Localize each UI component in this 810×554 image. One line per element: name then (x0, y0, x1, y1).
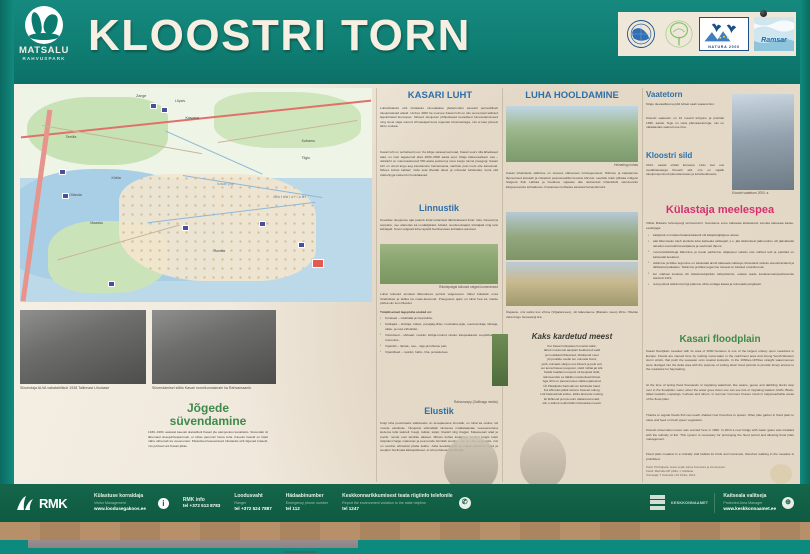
map-marker[interactable] (150, 103, 157, 109)
kasari-luht-body-1: Luhaniitudeks ehk luhtadeks nimetatakse … (380, 106, 498, 129)
eu-council-emblem-icon (623, 17, 659, 51)
jogede-title-line2: süvendamine (152, 415, 264, 428)
map-place-label: Zange (136, 94, 146, 98)
wooden-post-base (0, 522, 810, 540)
section-title-kulastaja-meelespea: Külastaja meelespea (646, 204, 794, 216)
keskkonnaamet-logo-icon (650, 495, 665, 512)
footer-divider (714, 493, 715, 513)
dredging-photo-2 (152, 310, 276, 384)
footer-item-violation-report: Keskkonnarikkumisest teata riigiinfo tel… (342, 493, 453, 513)
matsalu-park-logo: MATSALU RAHVUSPARK (14, 6, 74, 68)
footer-value: tel +372 513 8783 (183, 503, 220, 510)
photo-caption: Rändepaigal toituvad valged-luurendused (380, 285, 498, 289)
footer-item-ranger: Loodusvaht Ranger tel +372 524 7887 (234, 493, 271, 513)
hay-meadow-photo (506, 106, 638, 162)
phone-icon: ✆ (459, 497, 471, 509)
green-tree-emblem-icon (664, 17, 694, 51)
map-place-label: Kasari jõgi (217, 182, 234, 186)
vaatetorn-body-2: Kloostri vaatetorn on 16 meetrit kõrgune… (646, 116, 724, 130)
section-title-kasari-luht: KASARI LUHT (380, 90, 500, 101)
park-name: MATSALU (14, 46, 74, 56)
list-item: Kahlajad – kiivitaja, tutkas, punajalg-t… (380, 322, 498, 331)
footer-value[interactable]: www.loodusegakoos.ee (94, 506, 146, 513)
dredging-photo-1 (20, 310, 146, 384)
section-title-linnustik: Linnustik (380, 203, 498, 213)
linnustik-body-2: Luhal toituvad arvukad lähenduses peritu… (380, 292, 498, 306)
floodplain-paragraph: Kasari floodplain meadow with its area o… (646, 349, 794, 372)
matsalu-area-map: Zange Lõpsiv Kaspera Teedla Kubamu Tiigi… (20, 88, 372, 302)
luha-hooldamine-body-2: Ülejaanu, mis tekkis kus vihma (Vilgalan… (506, 310, 638, 319)
logo-bar (650, 495, 665, 499)
board-frame-left (0, 0, 14, 540)
jogede-body-text: 1930–1990. aastatel kaevati ulatuslikult… (148, 430, 268, 448)
photo-caption: Kloostri vaatetorn 2000. a. (732, 191, 794, 195)
logo-bar (650, 506, 665, 510)
column-divider (376, 88, 377, 482)
map-place-label: Rumba (214, 249, 226, 253)
footer-item-rmk-info: RMK info tel +372 513 8783 (183, 497, 220, 510)
water-shape-icon (29, 33, 59, 40)
map-highlight-marker[interactable] (312, 259, 324, 268)
photo-caption: Süvendamisel sõitis Kasari roomikumasina… (152, 386, 276, 390)
map-marker[interactable] (298, 242, 305, 248)
column-divider (502, 88, 503, 482)
map-place-label: Kubamu (302, 139, 315, 143)
kulastaja-intro: Viibite Matsalu rahvuspargi territoorium… (646, 221, 794, 230)
credit-line: Toimetaja: T. Kalvusta / AS Infoks, 2014… (646, 474, 766, 478)
observation-tower-photo (732, 94, 794, 190)
footer-item-emergency: Hädaabinumber Emergency phone number tel… (286, 493, 328, 513)
floodplain-paragraph: Thanks to regular floods fish can reach … (646, 413, 794, 422)
board-header: MATSALU RAHVUSPARK KLOOSTRI TORN (0, 0, 810, 84)
footer-item-protected-area-manager: Kaitseala valitseja Protected Area Manag… (723, 493, 776, 513)
map-marker[interactable] (259, 221, 266, 227)
poem-text: Kui Kasari luhtsades hernetilu kahk, läh… (508, 344, 636, 406)
section-title-luha-hooldamine: LUHA HOOLDAMINE (506, 90, 638, 101)
section-title-jogede-suvendamine: Jõgede süvendamine (152, 402, 264, 428)
map-place-label: Tiigiu (302, 156, 310, 160)
info-icon: i (158, 498, 169, 509)
luha-hooldamine-body-1: Kasari luhaniitude säilimine on otseses … (506, 171, 638, 189)
list-item: mootorsõidukitega liiklemine ja teede pa… (648, 250, 794, 259)
snipe-photo (492, 334, 508, 386)
list-item: kui märkad loodusa või külastusobjektide… (648, 272, 794, 281)
section-title-kloostri-sild: Kloostri sild (646, 151, 724, 160)
section-title-kasari-floodplain: Kasari floodplain (646, 334, 794, 345)
map-place-label: Kaspera (185, 116, 198, 120)
photo-caption: Rahvusvapp (Gallinago media) (454, 400, 554, 404)
ramsar-logo: Ramsar (754, 17, 794, 51)
column-divider (642, 88, 643, 482)
ramsar-label: Ramsar (754, 37, 794, 44)
keskkonnaamet-name: KESKKONNAAMET (671, 501, 708, 505)
footer-label: Külastuse korraldaja (94, 493, 146, 500)
page-title: KLOOSTRI TORN (88, 8, 471, 64)
vaatetorn-body-1: Kõige ülevaatlikuma pildi luhast saab va… (646, 102, 724, 107)
panel-body: Zange Lõpsiv Kaspera Teedla Kubamu Tiigi… (14, 84, 800, 486)
list-item: Värvulised – sõrkaart, sookiur, kõrkja-r… (380, 333, 498, 342)
photo-caption: Heinaringu luhas (506, 163, 638, 167)
keskkonnaamet-block: KESKKONNAAMET Kaitseala valitseja Protec… (650, 493, 794, 513)
list-item: reisi jooksul tekkinud prügi pakume võtt… (648, 282, 794, 287)
kulastaja-rules-list: kalapüük on lubatud kalastuskaardi või k… (648, 233, 794, 289)
haystack-photo (506, 262, 638, 306)
map-marker[interactable] (182, 225, 189, 231)
footer-item-visitor-management: Külastuse korraldaja Visitor Management … (94, 493, 146, 513)
board-footer: RMK Külastuse korraldaja Visitor Managem… (0, 484, 810, 522)
board-frame-right (800, 0, 810, 540)
linnustik-list-title: Tüüpilisemad lagepluha arukad on: (380, 310, 498, 315)
natura-2000-label: NATURA 2000 (700, 45, 748, 49)
list-item: Kurekael – rukkirääk ja rüpesluhta, (380, 316, 498, 321)
information-board: MATSALU RAHVUSPARK KLOOSTRI TORN (0, 0, 810, 540)
footer-label: Keskkonnarikkumisest teata riigiinfo tel… (342, 493, 453, 500)
map-place-label: Kirbla (112, 176, 121, 180)
map-marker[interactable] (62, 193, 69, 199)
rmk-logo: RMK (14, 492, 80, 514)
map-bay-label: Matsalu laht (273, 195, 307, 199)
rmk-wordmark: RMK (39, 496, 67, 511)
section-title-vaatetorn: Vaatetorn (646, 90, 724, 99)
linnustik-species-list: Kurekael – rukkirääk ja rüpesluhta, Kahl… (380, 316, 498, 356)
map-place-label: Teedla (66, 135, 77, 139)
list-item: Vipardid – ränkat-, see-, rüge-jä luhtos… (380, 344, 498, 349)
historic-photo-row: Süvendaja ALVA vabatahtlikult 1938 Talli… (20, 310, 372, 406)
footer-value: tel 112 (286, 506, 328, 513)
map-marker[interactable] (161, 107, 168, 113)
list-item: kalapüük on lubatud kalastuskaardi või k… (648, 233, 794, 238)
section-title-elustik: Elustik (380, 406, 498, 416)
map-reedbed (119, 174, 316, 281)
list-item: telkimine ja lõkke tegemine on kaitseala… (648, 261, 794, 270)
map-place-label: Maadsu (90, 221, 103, 225)
map-place-label: Lõpsiv (175, 99, 185, 103)
park-emblem-icon (25, 6, 63, 44)
photo-caption: Süvendaja ALVA vabatahtlikult 1938 Talli… (20, 386, 146, 390)
footer-value: tel 1247 (342, 506, 453, 513)
natura-2000-logo: NATURA 2000 (699, 17, 749, 51)
rmk-mark-icon (14, 492, 36, 514)
park-subtitle: RAHVUSPARK (14, 56, 74, 61)
list-item: Vipardlised – rookiivi, hahk-, liha- ja … (380, 350, 498, 355)
footer-value[interactable]: www.keskkonnaamet.ee (723, 506, 776, 513)
footer-label: Hädaabinumber (286, 493, 328, 500)
photo-caption: Kasari luhal üleujutus (284, 550, 316, 554)
map-marker[interactable] (59, 169, 66, 175)
floodplain-paragraph: At the time of spring flood thousands of… (646, 383, 794, 401)
footer-value: tel +372 524 7887 (234, 506, 271, 513)
rmk-watermark-icon (770, 464, 792, 484)
board-credits: Tekst: Tiit Kaljusta, Grete Lepik, Aarne… (646, 466, 766, 477)
logo-bar (650, 500, 665, 504)
geese-photo (380, 244, 498, 284)
floodplain-paragraph: Kloostri observation tower was erected h… (646, 428, 794, 442)
bird-illustration (520, 432, 566, 488)
kloostri-sild-body: 2014. aastal ehitati Euroopa Liidu toel … (646, 163, 724, 177)
globe-icon: ⊕ (782, 497, 794, 509)
map-marker[interactable] (108, 281, 115, 287)
mounting-bolt (760, 10, 767, 17)
map-place-label: Ollanda (69, 193, 81, 197)
linnustik-body-1: Kevadise üleujutuse ajal peatub luhal tu… (380, 218, 498, 232)
floodplain-paragraph: Flood plain meadow is a critically vital… (646, 452, 794, 461)
partner-logo-strip: NATURA 2000 Ramsar (618, 12, 796, 56)
mowing-machine-photo (506, 212, 638, 260)
section-title-kaks-kardetud-meest: Kaks kardetud meest (506, 332, 638, 341)
kasari-luht-body-2: Kasari luht on suhteliselt noor. Ka kõig… (380, 150, 498, 177)
list-item: alal liikumiseks tuleb taotleda luba kai… (648, 239, 794, 248)
